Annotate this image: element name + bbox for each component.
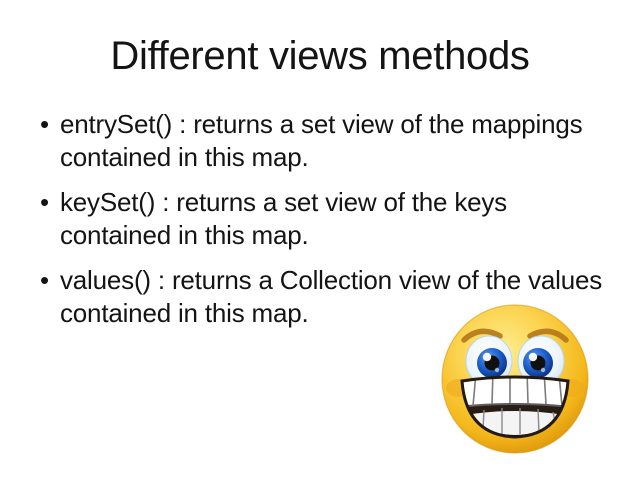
page-title: Different views methods [0,32,640,80]
bullet-point-icon: • [30,186,60,219]
list-item-text: keySet() : returns a set view of the key… [60,186,615,252]
list-item: • keySet() : returns a set view of the k… [30,186,615,252]
grinning-smiley-face-icon [440,303,590,455]
bullet-point-icon: • [30,264,60,297]
list-item: • entrySet() : returns a set view of the… [30,108,615,174]
list-item-text: entrySet() : returns a set view of the m… [60,108,615,174]
bullet-point-icon: • [30,108,60,141]
presentation-slide: Different views methods • entrySet() : r… [0,0,640,480]
